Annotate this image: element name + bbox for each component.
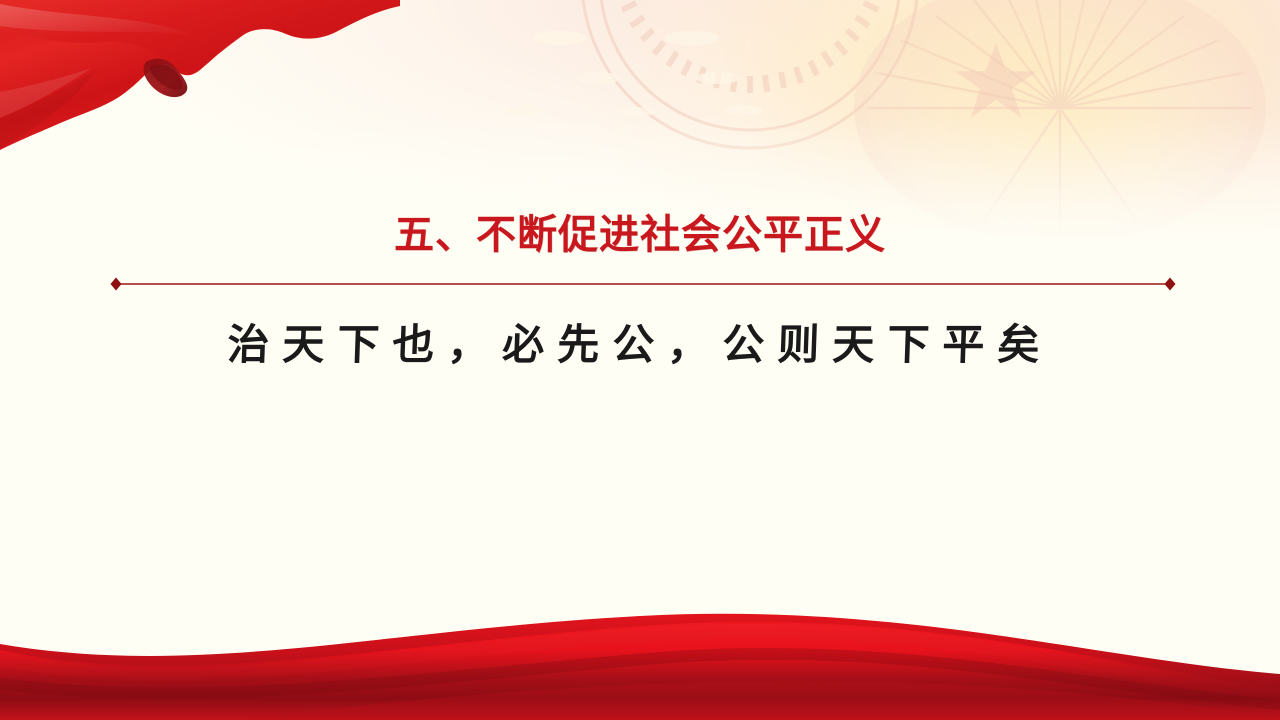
subtitle-quote: 治天下也，必先公，公则天下平矣 (0, 311, 1280, 372)
five-pointed-star-watermark (952, 38, 1040, 122)
divider (110, 276, 1176, 292)
divider-diamond-left (111, 278, 122, 291)
red-silk-ribbon-top-left (0, 0, 400, 200)
divider-diamond-right (1165, 278, 1176, 291)
page-title: 五、不断促进社会公平正义 (0, 202, 1280, 260)
slide-canvas: 五、不断促进社会公平正义 治天下也，必先公，公则天下平矣 (0, 0, 1280, 720)
red-silk-wave-bottom (0, 600, 1280, 720)
